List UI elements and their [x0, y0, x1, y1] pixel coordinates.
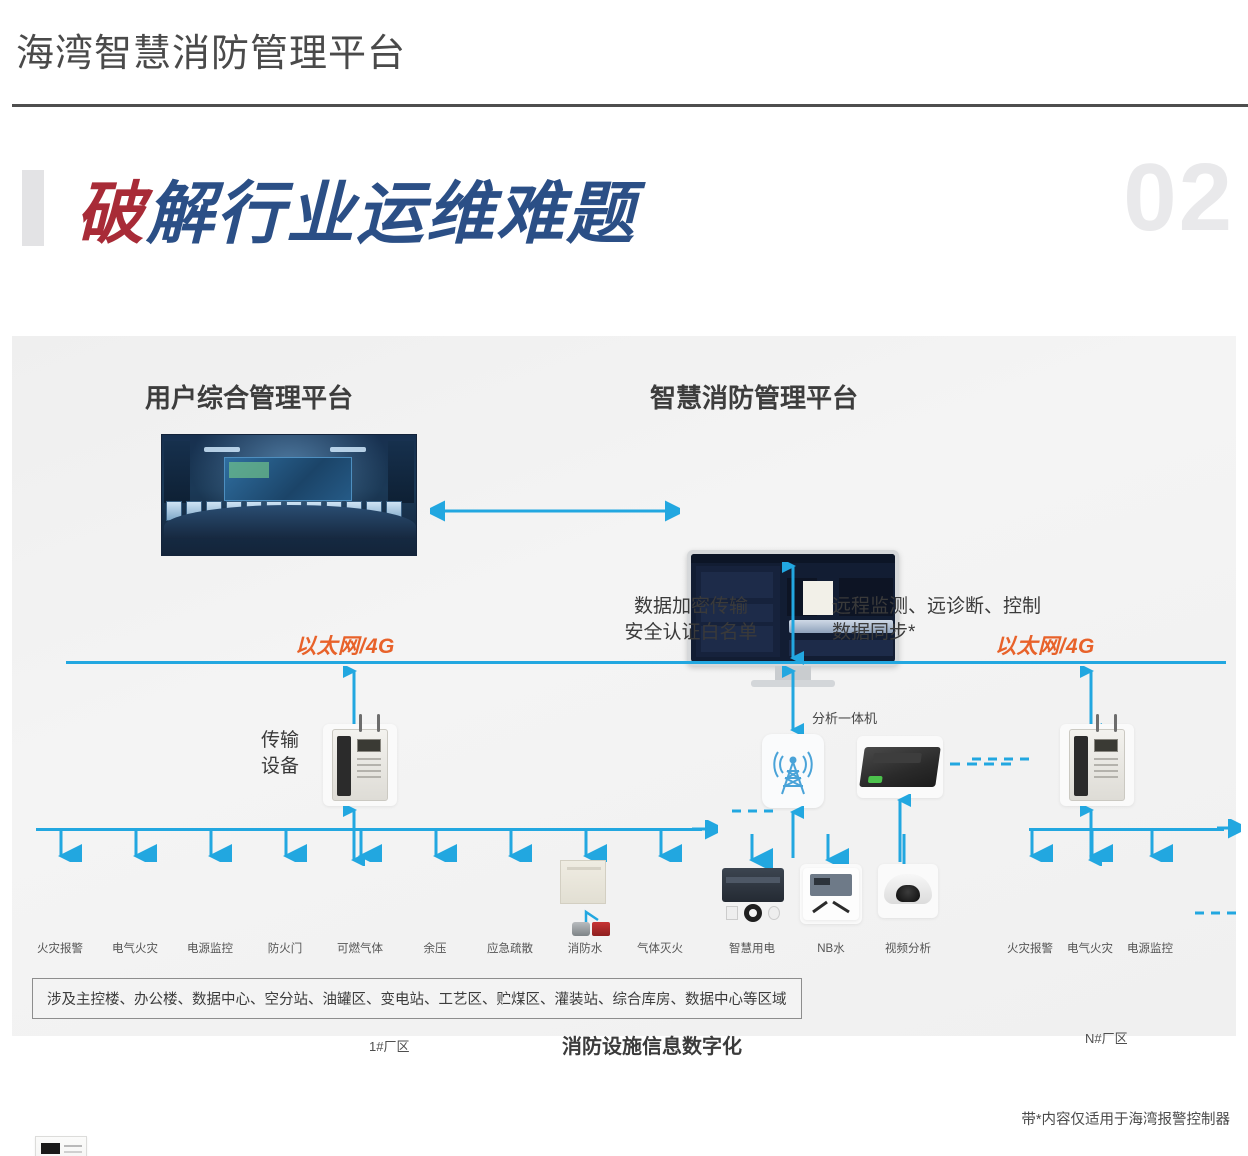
device-thumb-fire-water	[560, 860, 612, 936]
remote-note-line1: 远程监测、远诊断、控制	[832, 594, 1041, 620]
device-label-5: 余压	[395, 940, 475, 956]
smart-platform-title: 智慧消防管理平台	[650, 378, 858, 415]
region-coverage-box: 涉及主控楼、办公楼、数据中心、空分站、油罐区、变电站、工艺区、贮煤区、灌装站、综…	[32, 978, 802, 1019]
transmission-device-right	[1060, 724, 1134, 806]
left-device-droplines	[30, 828, 710, 862]
device-label-2: 电源监控	[170, 940, 250, 956]
control-room-image	[161, 434, 417, 556]
diagram-bottom-title: 消防设施信息数字化	[562, 1030, 742, 1059]
backbone-bus-line	[66, 661, 1226, 664]
headline-accent-bar	[22, 170, 44, 246]
plant-label-left: 1#厂区	[369, 1036, 409, 1055]
right-dashed-link-left	[972, 754, 1032, 764]
device-label-0: 火灾报警	[20, 940, 100, 956]
headline: 破解行业运维难题	[76, 158, 636, 257]
page-title: 海湾智慧消防管理平台	[16, 22, 406, 77]
ethernet-label-right: 以太网/4G	[995, 630, 1095, 660]
transmission-device-left	[323, 724, 397, 806]
device-thumb-video-analysis	[878, 864, 938, 918]
monitor-downlink-arrow	[782, 562, 804, 666]
mid-device-label-0: 智慧用电	[710, 940, 794, 956]
headline-red-text: 破	[76, 176, 146, 252]
ethernet-label-left: 以太网/4G	[295, 630, 395, 660]
header-divider	[12, 104, 1248, 107]
device-label-8: 气体灭火	[620, 940, 700, 956]
platform-link-arrow	[430, 496, 680, 526]
plant-label-right: N#厂区	[1085, 1028, 1128, 1047]
architecture-diagram: 用户综合管理平台 智慧消防管理平台	[12, 336, 1236, 1036]
encryption-note-line1: 数据加密传输	[596, 594, 786, 620]
device-label-6: 应急疏散	[470, 940, 550, 956]
transmission-device-label: 传输 设备	[252, 728, 308, 779]
headline-blue-text: 解行业运维难题	[146, 176, 636, 252]
device-label-3: 防火门	[245, 940, 325, 956]
analyzer-device	[857, 736, 943, 798]
mid-device-label-2: 视频分析	[866, 940, 950, 956]
device-thumb-nb-water	[800, 864, 862, 924]
tower-uplink-arrow	[782, 666, 804, 736]
right-device-label-2: 电源监控	[1110, 940, 1190, 956]
right-device-droplines	[1022, 828, 1222, 862]
encryption-note-line2: 安全认证白名单	[596, 620, 786, 646]
right-dashed-link-bottom	[1195, 908, 1239, 918]
footnote: 带*内容仅适用于海湾报警控制器	[1021, 1108, 1230, 1129]
section-number: 02	[1123, 150, 1234, 246]
device-thumb-fire-alarm	[35, 1136, 87, 1156]
analyzer-label: 分析一体机	[812, 708, 877, 727]
device-label-4: 可燃气体	[320, 940, 400, 956]
device-label-1: 电气火灾	[95, 940, 175, 956]
user-platform-title: 用户综合管理平台	[145, 378, 353, 415]
mid-dashed-link	[732, 806, 778, 816]
transmission-device-label-line1: 传输	[252, 728, 308, 754]
mid-device-label-1: NB水	[789, 940, 873, 956]
encryption-note: 数据加密传输 安全认证白名单	[596, 594, 786, 646]
transmission-device-label-line2: 设备	[252, 754, 308, 780]
wireless-tower-icon	[762, 734, 824, 808]
slide-page: 海湾智慧消防管理平台 破解行业运维难题 02 用户综合管理平台 智慧消防管理平台	[0, 0, 1248, 1156]
device-label-7: 消防水	[545, 940, 625, 956]
device-thumb-smart-electricity	[722, 868, 784, 922]
